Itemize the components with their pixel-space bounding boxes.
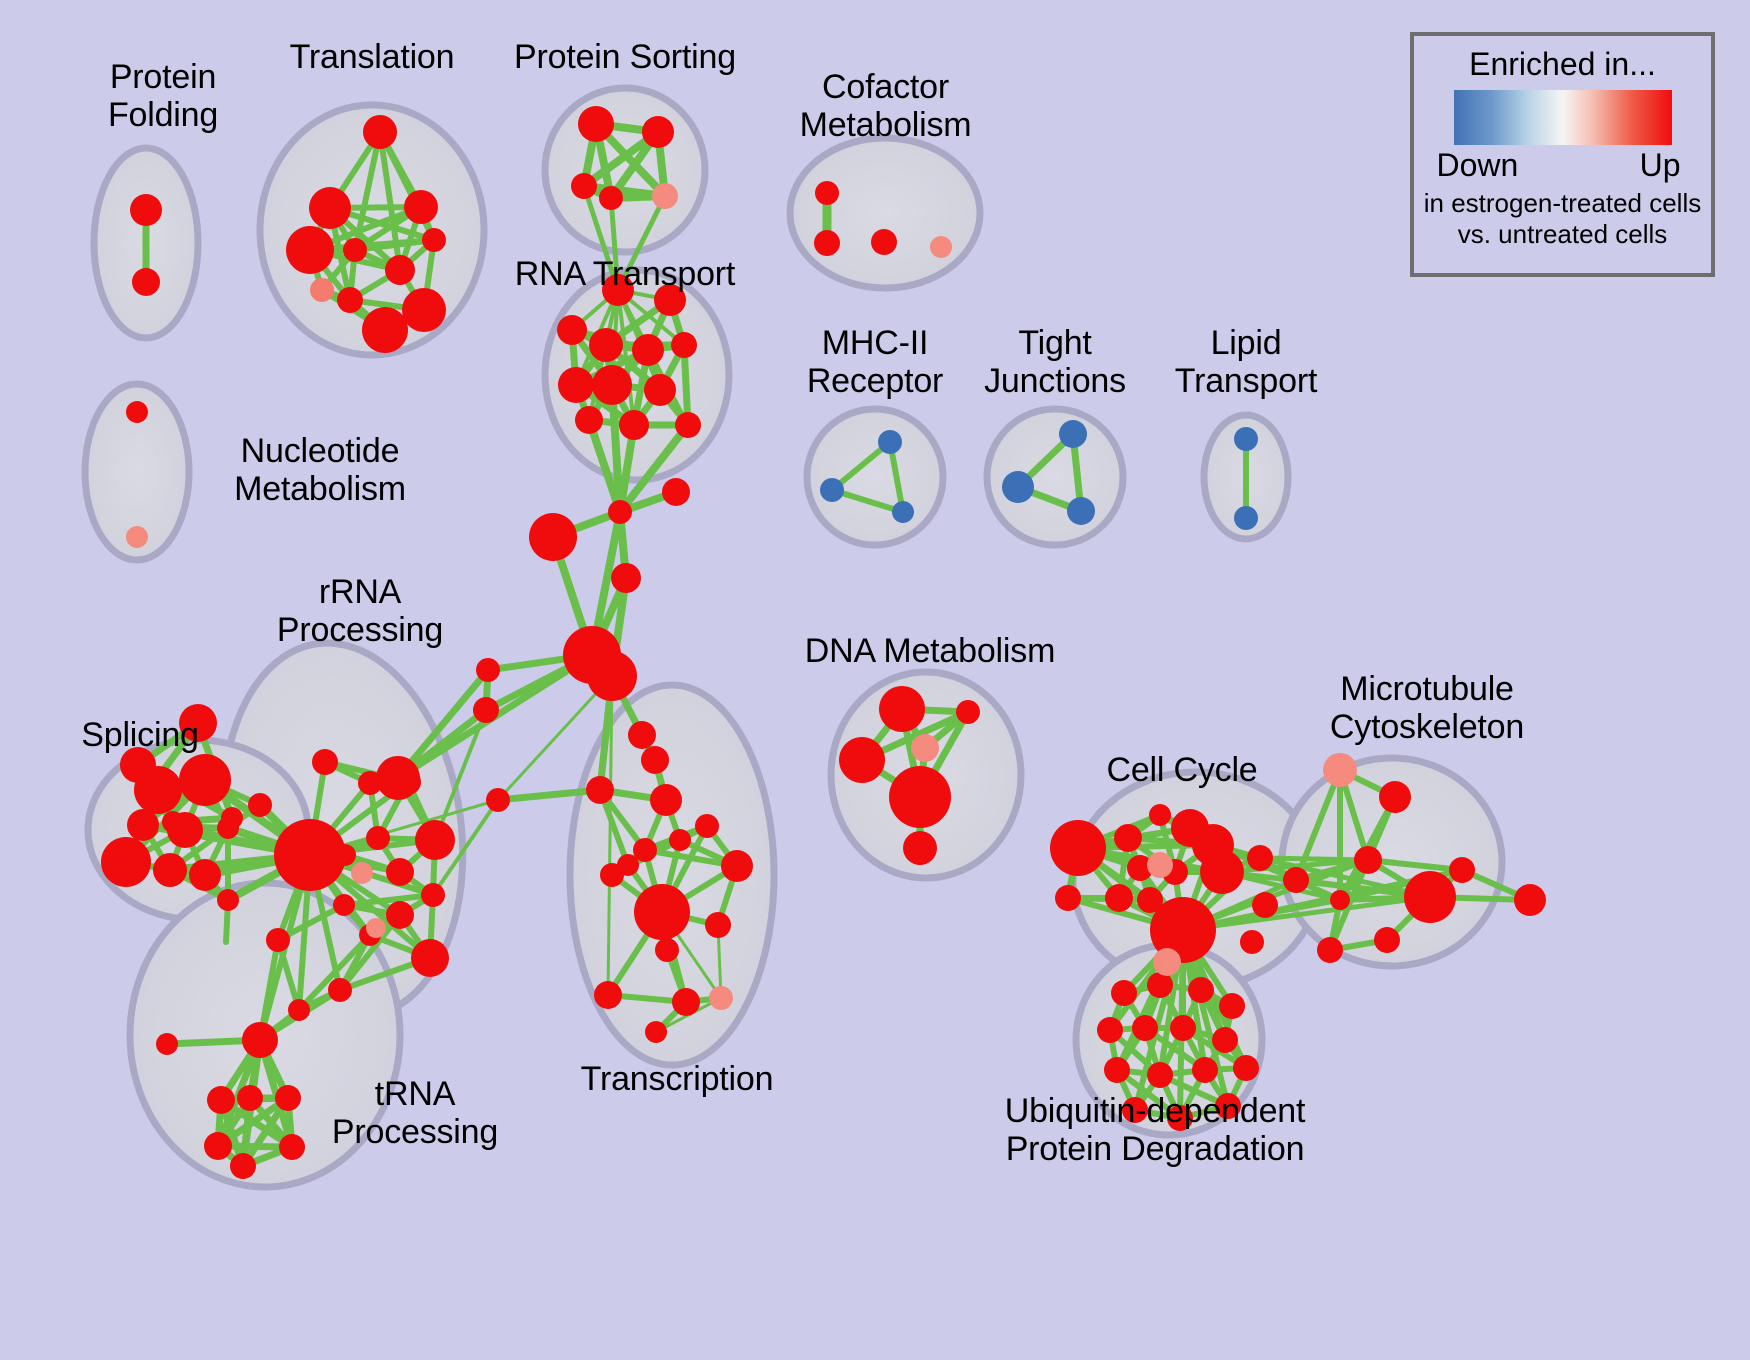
node [814, 230, 840, 256]
legend-title: Enriched in... [1414, 46, 1711, 83]
node [1097, 1017, 1123, 1043]
node [671, 332, 697, 358]
node [101, 837, 151, 887]
legend-subtitle-line2: vs. untreated cells [1414, 220, 1711, 249]
node [878, 430, 902, 454]
node [204, 1132, 232, 1160]
node [586, 776, 614, 804]
node [288, 999, 310, 1021]
node [632, 334, 664, 366]
node [248, 793, 272, 817]
node [351, 862, 373, 884]
cluster-label-rrna-processing: rRNA Processing [255, 573, 465, 649]
cluster-label-translation: Translation [262, 38, 482, 76]
node [705, 912, 731, 938]
node [130, 194, 162, 226]
node [628, 721, 656, 749]
node [486, 788, 510, 812]
node [634, 884, 690, 940]
node [1354, 846, 1382, 874]
node [820, 478, 844, 502]
node [385, 255, 415, 285]
node [333, 894, 355, 916]
node [421, 883, 445, 907]
cluster-label-splicing: Splicing [50, 716, 230, 754]
node [650, 784, 682, 816]
node [415, 820, 455, 860]
node [237, 1085, 263, 1111]
node [312, 749, 338, 775]
node [655, 938, 679, 962]
node [871, 229, 897, 255]
node [362, 307, 408, 353]
node [1111, 980, 1137, 1006]
node [594, 981, 622, 1009]
hull-mhc-ii [807, 409, 943, 545]
node [217, 817, 239, 839]
node [879, 686, 925, 732]
cluster-label-ubiquitin: Ubiquitin-dependent Protein Degradation [965, 1092, 1345, 1168]
node [642, 116, 674, 148]
hull-protein-sorting [545, 88, 705, 252]
node [242, 1022, 278, 1058]
node [956, 700, 980, 724]
node [189, 859, 221, 891]
node [132, 268, 160, 296]
node [366, 826, 390, 850]
node [558, 367, 594, 403]
node [275, 1085, 301, 1111]
node [599, 186, 623, 210]
node [1374, 927, 1400, 953]
node [1170, 1015, 1196, 1041]
node [1153, 948, 1181, 976]
node [1050, 820, 1106, 876]
node [1317, 937, 1343, 963]
node [309, 187, 351, 229]
node [1188, 977, 1214, 1003]
node [903, 831, 937, 865]
node [1147, 972, 1173, 998]
node [167, 812, 203, 848]
node [600, 863, 624, 887]
node [1147, 852, 1173, 878]
node [578, 106, 614, 142]
node [1252, 892, 1278, 918]
node [1055, 885, 1081, 911]
node [1149, 804, 1171, 826]
node [1105, 884, 1133, 912]
node [1330, 890, 1350, 910]
node [207, 1086, 235, 1114]
cluster-label-rna-transport: RNA Transport [500, 255, 750, 293]
node [1283, 867, 1309, 893]
node [889, 766, 951, 828]
node [1247, 845, 1273, 871]
enrichment-map-figure: Protein Folding Translation Protein Sort… [0, 0, 1750, 1360]
node [592, 365, 632, 405]
node [1404, 871, 1456, 923]
node [1192, 1057, 1218, 1083]
cluster-label-cofactor-metabolism: Cofactor Metabolism [768, 68, 1003, 144]
node [911, 734, 939, 762]
node [575, 406, 603, 434]
node [930, 236, 952, 258]
cluster-label-lipid-transport: Lipid Transport [1156, 324, 1336, 400]
node [1114, 824, 1142, 852]
node [156, 1033, 178, 1055]
node [473, 697, 499, 723]
legend-color-bar [1454, 90, 1672, 145]
node [411, 939, 449, 977]
cluster-label-trna-processing: tRNA Processing [300, 1075, 530, 1151]
node [153, 853, 187, 887]
node [476, 658, 500, 682]
node [217, 889, 239, 911]
node [286, 226, 334, 274]
cluster-label-transcription: Transcription [562, 1060, 792, 1098]
node [1132, 1015, 1158, 1041]
node [422, 228, 446, 252]
node [134, 766, 182, 814]
node [1147, 1062, 1173, 1088]
node [675, 412, 701, 438]
node [695, 814, 719, 838]
node [557, 315, 587, 345]
node [310, 278, 334, 302]
node [587, 651, 637, 701]
legend-endpoints: Down Up [1443, 147, 1683, 187]
node [1002, 471, 1034, 503]
node [1200, 850, 1244, 894]
legend-down-label: Down [1437, 147, 1519, 184]
node [571, 173, 597, 199]
node [402, 288, 446, 332]
node [1323, 753, 1357, 787]
legend-box: Enriched in... Down Up in estrogen-treat… [1410, 32, 1715, 277]
node [608, 500, 632, 524]
node [363, 115, 397, 149]
node [1234, 506, 1258, 530]
node [328, 978, 352, 1002]
node [1240, 930, 1264, 954]
node [669, 829, 691, 851]
node [230, 1153, 256, 1179]
node [662, 478, 690, 506]
cluster-label-cell-cycle: Cell Cycle [1082, 751, 1282, 789]
legend-subtitle-line1: in estrogen-treated cells [1414, 189, 1711, 218]
node [1212, 1027, 1238, 1053]
node [892, 501, 914, 523]
node [645, 1021, 667, 1043]
node [1449, 857, 1475, 883]
cluster-label-protein-sorting: Protein Sorting [495, 38, 755, 76]
node [1233, 1055, 1259, 1081]
node [376, 756, 420, 800]
node [1219, 993, 1245, 1019]
node [1059, 420, 1087, 448]
node [1067, 497, 1095, 525]
node [1234, 427, 1258, 451]
node [815, 181, 839, 205]
cluster-label-microtubule: Microtubule Cytoskeleton [1292, 670, 1562, 746]
node [266, 928, 290, 952]
node [343, 238, 367, 262]
node [1514, 884, 1546, 916]
cluster-label-nucleotide-metabolism: Nucleotide Metabolism [200, 432, 440, 508]
cluster-label-protein-folding: Protein Folding [78, 58, 248, 134]
node [337, 287, 363, 313]
cluster-label-dna-metabolism: DNA Metabolism [795, 632, 1065, 670]
node [366, 918, 386, 938]
node [644, 374, 676, 406]
cluster-label-tight-junctions: Tight Junctions [965, 324, 1145, 400]
node [126, 401, 148, 423]
legend-up-label: Up [1640, 147, 1681, 184]
node [386, 858, 414, 886]
node [529, 513, 577, 561]
node [1104, 1057, 1130, 1083]
node [619, 410, 649, 440]
node [709, 986, 733, 1010]
hull-cofactor-metabolism [790, 138, 980, 288]
node [611, 563, 641, 593]
cluster-label-mhc-ii-receptor: MHC-II Receptor [785, 324, 965, 400]
node [641, 746, 669, 774]
node [721, 850, 753, 882]
node [404, 190, 438, 224]
node [179, 754, 231, 806]
node [652, 183, 678, 209]
node [126, 526, 148, 548]
node [839, 737, 885, 783]
node [386, 901, 414, 929]
node [1379, 781, 1411, 813]
node [589, 328, 623, 362]
node [127, 809, 159, 841]
node [274, 819, 346, 891]
node [672, 988, 700, 1016]
